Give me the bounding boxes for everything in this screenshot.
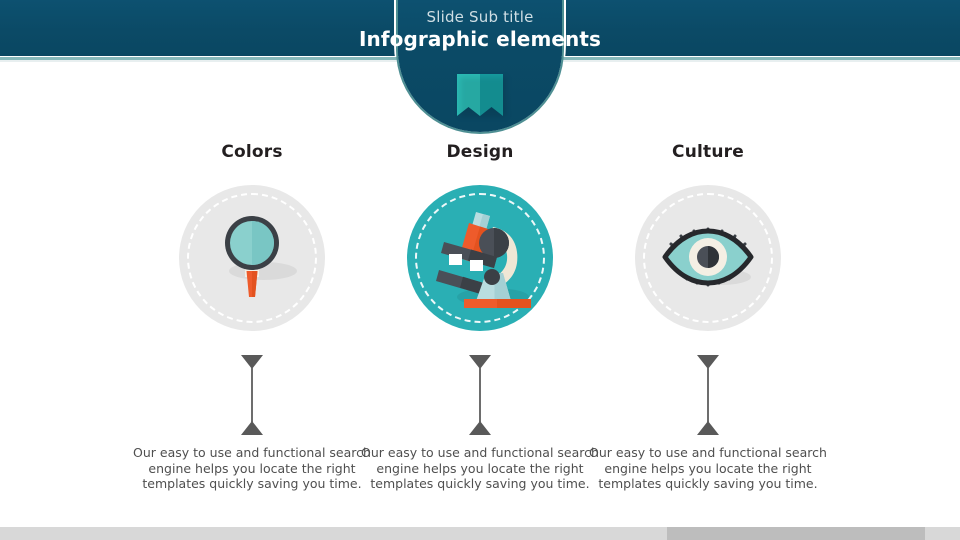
connector-arrow-up (469, 421, 491, 435)
connector-arrow-down (697, 355, 719, 369)
magnifier-icon (179, 185, 325, 331)
ribbon-banner (457, 74, 503, 116)
connector-design (469, 355, 491, 435)
column-body-culture: Our easy to use and functional search en… (573, 445, 843, 492)
microscope-icon (407, 185, 553, 331)
connector-arrow-down (241, 355, 263, 369)
infographic-column-culture[interactable]: Culture (558, 140, 858, 492)
connector-arrow-up (241, 421, 263, 435)
horizontal-scrollbar-thumb[interactable] (667, 527, 925, 540)
connector-line (251, 368, 253, 422)
connector-line (479, 368, 481, 422)
eye-icon (635, 185, 781, 331)
header-text-block: Slide Sub title Infographic elements (0, 8, 960, 52)
connector-colors (241, 355, 263, 435)
ribbon-shadow (460, 77, 506, 117)
icon-circle-design[interactable] (407, 185, 553, 331)
connector-line (707, 368, 709, 422)
column-title-culture: Culture (558, 140, 858, 164)
connector-culture (697, 355, 719, 435)
connector-arrow-up (697, 421, 719, 435)
slide-subtitle: Slide Sub title (0, 8, 960, 27)
horizontal-scrollbar-track[interactable] (0, 527, 960, 540)
slide-title: Infographic elements (0, 27, 960, 52)
connector-arrow-down (469, 355, 491, 369)
slide-header: Slide Sub title Infographic elements (0, 0, 960, 80)
icon-circle-colors[interactable] (179, 185, 325, 331)
icon-circle-culture[interactable] (635, 185, 781, 331)
